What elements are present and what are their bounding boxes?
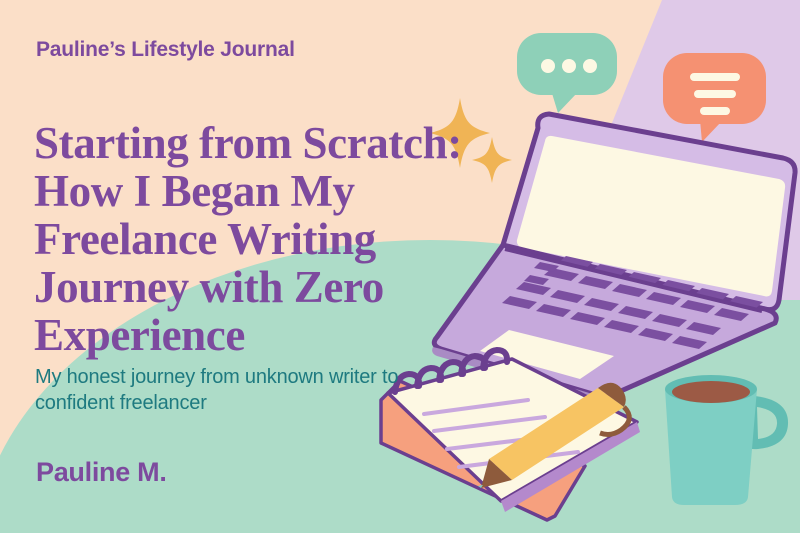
page-title: Starting from Scratch: How I Began My Fr…	[34, 119, 534, 359]
author-name: Pauline M.	[36, 457, 167, 488]
publication-kicker: Pauline’s Lifestyle Journal	[36, 38, 295, 62]
social-card: Pauline’s Lifestyle Journal Starting fro…	[0, 0, 800, 533]
page-subtitle: My honest journey from unknown writer to…	[35, 364, 425, 416]
text-block: Pauline’s Lifestyle Journal Starting fro…	[0, 0, 800, 533]
